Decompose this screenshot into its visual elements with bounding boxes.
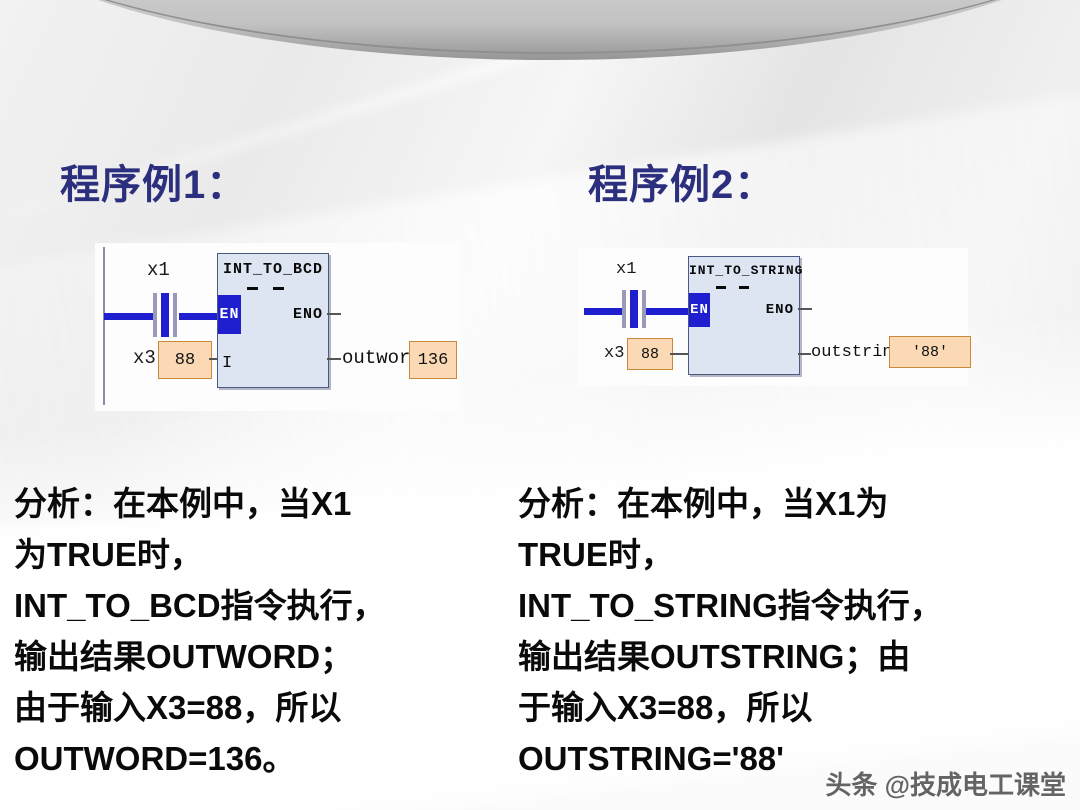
function-block-int-to-string[interactable]: INT_TO_STRING EN ENO I O	[688, 256, 800, 375]
output-wire-1	[327, 358, 341, 360]
eno-pin-2: ENO	[766, 302, 794, 318]
input-pin-1: I	[222, 354, 232, 373]
analysis-text-example-2: 分析：在本例中，当X1为 TRUE时， INT_TO_STRING指令执行， 输…	[518, 478, 1066, 784]
page-title-example-1: 程序例1：	[60, 152, 247, 210]
power-rail-left-1	[103, 247, 105, 405]
contact-fill-1	[161, 293, 169, 337]
eno-pin-1: ENO	[293, 306, 323, 323]
slide-canvas: 程序例1： 程序例2： x1 x3 88 INT_TO_BCD EN ENO I	[0, 0, 1080, 810]
ladder-diagram-1: x1 x3 88 INT_TO_BCD EN ENO I O outword 1…	[95, 243, 460, 411]
contact-x1-2	[620, 290, 648, 334]
rung-wire-left-1	[104, 313, 155, 320]
function-block-title-underscore-c	[716, 286, 726, 289]
contact-bar-left-2	[622, 290, 626, 328]
contact-fill-2	[630, 290, 638, 328]
contact-label-x1-2: x1	[616, 260, 636, 279]
function-block-title-underscore-d	[739, 286, 749, 289]
function-block-title-underscore-a	[247, 287, 258, 290]
output-wire-2	[798, 353, 811, 355]
contact-x1-1	[151, 293, 179, 337]
contact-label-x1-1: x1	[147, 259, 170, 281]
page-title-example-2: 程序例2：	[588, 152, 775, 210]
input-label-x3-2: x3	[604, 344, 624, 363]
contact-bar-right-1	[173, 293, 177, 337]
input-value-box-1[interactable]: 88	[158, 341, 212, 379]
rung-wire-right-2	[646, 308, 688, 315]
rung-wire-right-1	[179, 313, 217, 320]
eno-wire-2	[798, 308, 812, 310]
function-block-title-1: INT_TO_BCD	[218, 261, 328, 278]
output-value-box-1[interactable]: 136	[409, 341, 457, 379]
input-label-x3-1: x3	[133, 347, 156, 369]
watermark-label: 头条 @技成电工课堂	[825, 765, 1066, 802]
en-pin-2: EN	[689, 293, 710, 327]
function-block-title-2: INT_TO_STRING	[689, 263, 799, 278]
function-block-title-underscore-b	[273, 287, 284, 290]
ladder-diagram-2: x1 x3 88 INT_TO_STRING EN ENO I O outstr…	[578, 248, 968, 386]
analysis-text-example-1: 分析：在本例中，当X1 为TRUE时， INT_TO_BCD指令执行， 输出结果…	[14, 478, 504, 784]
function-block-int-to-bcd[interactable]: INT_TO_BCD EN ENO I O	[217, 253, 329, 388]
en-pin-1: EN	[218, 295, 241, 334]
contact-bar-left-1	[153, 293, 157, 337]
eno-wire-1	[327, 313, 341, 315]
input-value-box-2[interactable]: 88	[627, 338, 673, 370]
rung-wire-left-2	[584, 308, 622, 315]
output-value-box-2[interactable]: '88'	[889, 336, 971, 368]
